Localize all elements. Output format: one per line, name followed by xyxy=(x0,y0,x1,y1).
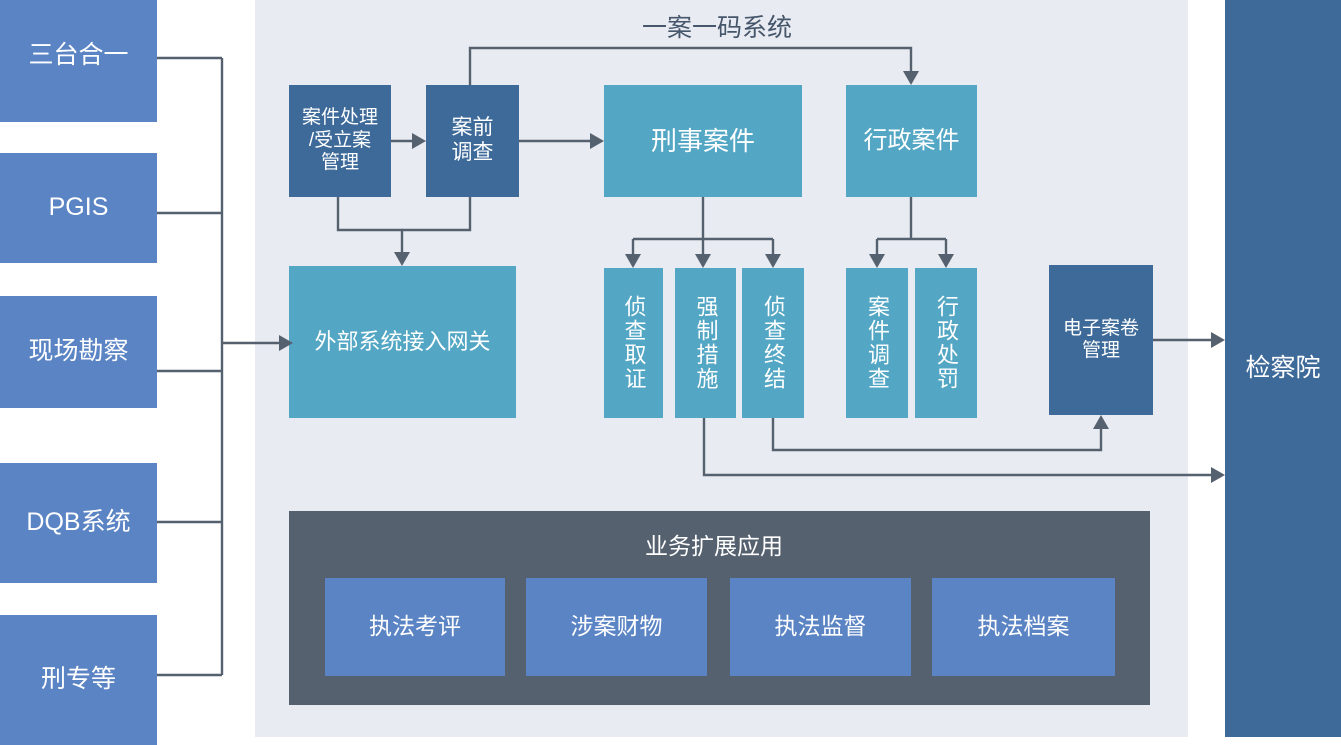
intake-to-preinvestigation-arrow xyxy=(391,133,426,149)
criminal-case-branch-arrows xyxy=(625,197,781,268)
sidebar-bus-connectors xyxy=(157,58,293,675)
preinvestigation-to-criminal-arrow xyxy=(519,133,604,149)
connector-lines xyxy=(0,0,1341,737)
preinvestigation-to-administrative-arrow xyxy=(470,48,919,85)
investigation-end-to-efile-arrow xyxy=(773,415,1109,450)
efile-to-procuratorate-arrow xyxy=(1153,332,1225,348)
diagram-canvas: 三台合一 PGIS 现场勘察 DQB系统 刑专等 一案一码系统 案件处理 /受立… xyxy=(0,0,1341,737)
intake-to-gateway-arrow xyxy=(338,197,470,266)
administrative-case-branch-arrows xyxy=(869,197,954,268)
